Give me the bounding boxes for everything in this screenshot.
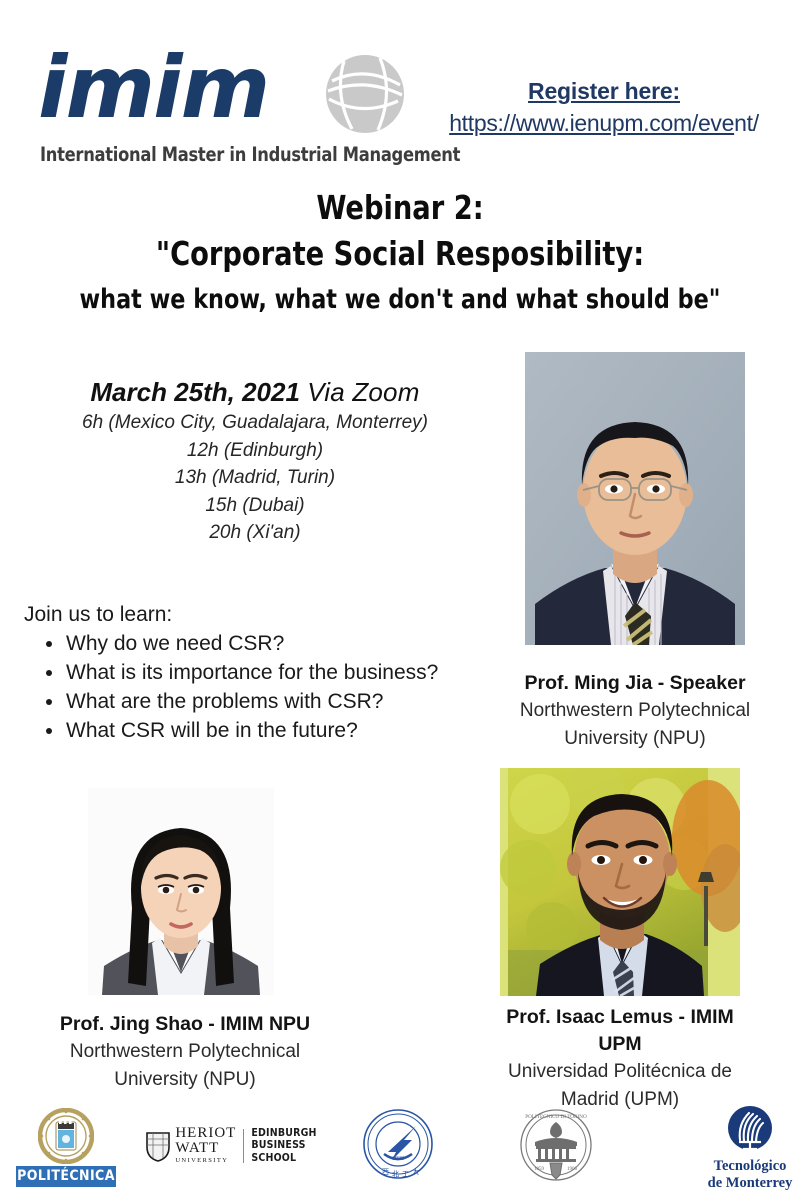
caption-isaac-lemus: Prof. Isaac Lemus - IMIM UPM Universidad…: [455, 1004, 785, 1114]
heriot-name-line-3: UNIVERSITY: [175, 1156, 236, 1165]
speaker-photo-isaac-lemus: [500, 768, 740, 996]
speaker-org-line-1: Northwestern Polytechnical: [490, 697, 780, 725]
register-here-text: Register here: [528, 78, 672, 104]
svg-text:POLITECNICO DI TORINO: POLITECNICO DI TORINO: [525, 1114, 587, 1120]
caption-jing-shao: Prof. Jing Shao - IMIM NPU Northwestern …: [10, 1011, 360, 1094]
register-colon: :: [672, 78, 679, 104]
heriot-watt-logo: HERIOT WATT UNIVERSITY EDINBURGH BUSINES…: [140, 1126, 322, 1165]
list-item: What are the problems with CSR?: [64, 687, 484, 716]
schedule-time-3: 13h (Madrid, Turin): [20, 464, 490, 492]
npu-logo: 1938 西北工大: [352, 1108, 444, 1180]
schedule-platform: Via Zoom: [307, 377, 419, 407]
speaker-photo-ming-jia: [525, 352, 745, 645]
speaker-org-line-2: University (NPU): [10, 1066, 360, 1094]
caption-ming-jia: Prof. Ming Jia - Speaker Northwestern Po…: [490, 670, 780, 753]
speaker-org-line-1: Universidad Politécnica de: [455, 1058, 785, 1086]
torino-seal-icon: POLITECNICO DI TORINO 1859 1906: [519, 1108, 593, 1182]
imim-logo: imim International Master in Industrial …: [34, 47, 414, 167]
heriot-name-line-2: WATT: [175, 1141, 236, 1156]
upm-logo: POLITÉCNICA: [14, 1108, 118, 1187]
agenda-block: Join us to learn: Why do we need CSR? Wh…: [24, 600, 484, 745]
speaker-name-line-2: UPM: [455, 1031, 785, 1058]
agenda-list: Why do we need CSR? What is its importan…: [24, 629, 484, 745]
page-title: Webinar 2: "Corporate Social Resposibili…: [0, 186, 800, 322]
npu-seal-icon: 1938 西北工大: [362, 1108, 434, 1180]
schedule-date: March 25th, 2021: [90, 377, 300, 407]
register-block: Register here: https://www.ienupm.com/ev…: [414, 78, 794, 137]
ebs-line-3: SCHOOL: [251, 1152, 316, 1165]
globe-icon: [322, 51, 408, 137]
speaker-org-line-1: Northwestern Polytechnical: [10, 1038, 360, 1066]
title-line-3: what we know, what we don't and what sho…: [32, 278, 768, 322]
title-line-2: "Corporate Social Resposibility:: [32, 230, 768, 278]
webinar-poster: imim International Master in Industrial …: [0, 0, 800, 1200]
schedule-block: March 25th, 2021 Via Zoom 6h (Mexico Cit…: [20, 375, 490, 547]
list-item: What is its importance for the business?: [64, 658, 484, 687]
imim-wordmark-row: imim: [34, 47, 414, 133]
schedule-time-5: 20h (Xi'an): [20, 519, 490, 547]
imim-tagline: International Master in Industrial Manag…: [40, 143, 460, 166]
tecnologico-monterrey-logo: Tecnológico de Monterrey: [700, 1104, 800, 1191]
ebs-line-2: BUSINESS: [251, 1139, 316, 1152]
footer-logo-row: POLITÉCNICA HERIOT WATT UNIVER: [0, 1104, 800, 1200]
svg-text:1938: 1938: [392, 1156, 404, 1162]
register-url-tail: nt/: [734, 110, 759, 136]
svg-text:北: 北: [392, 1170, 399, 1178]
politecnico-torino-logo: POLITECNICO DI TORINO 1859 1906: [508, 1108, 604, 1182]
heriot-divider: [243, 1129, 244, 1163]
svg-text:1859: 1859: [534, 1167, 545, 1172]
register-here-label[interactable]: Register here:: [414, 78, 794, 105]
schedule-time-1: 6h (Mexico City, Guadalajara, Monterrey): [20, 409, 490, 437]
svg-text:大: 大: [412, 1167, 419, 1176]
speaker-photo-jing-shao: [88, 788, 274, 995]
monterrey-line-1: Tecnológico: [700, 1158, 800, 1175]
register-url-line[interactable]: https://www.ienupm.com/event/: [414, 110, 794, 137]
upm-seal-icon: [38, 1108, 94, 1164]
ebs-line-1: EDINBURGH: [251, 1127, 316, 1140]
svg-text:西: 西: [382, 1168, 389, 1176]
heriot-name-line-1: HERIOT: [175, 1126, 236, 1141]
heriot-shield-icon: [145, 1130, 171, 1162]
speaker-name: Prof. Isaac Lemus - IMIM: [455, 1004, 785, 1031]
list-item: Why do we need CSR?: [64, 629, 484, 658]
schedule-headline: March 25th, 2021 Via Zoom: [20, 375, 490, 409]
speaker-org-line-2: University (NPU): [490, 725, 780, 753]
svg-text:1906: 1906: [567, 1167, 578, 1172]
schedule-time-2: 12h (Edinburgh): [20, 437, 490, 465]
monterrey-wordmark: Tecnológico de Monterrey: [700, 1158, 800, 1191]
monterrey-line-2: de Monterrey: [700, 1175, 800, 1192]
imim-wordmark: imim: [38, 45, 268, 131]
speaker-name: Prof. Jing Shao - IMIM NPU: [10, 1011, 360, 1038]
svg-text:工: 工: [402, 1170, 409, 1178]
schedule-time-4: 15h (Dubai): [20, 492, 490, 520]
upm-politecnica-bar: POLITÉCNICA: [16, 1166, 116, 1187]
agenda-lead: Join us to learn:: [24, 600, 484, 629]
list-item: What CSR will be in the future?: [64, 716, 484, 745]
monterrey-flame-icon: [724, 1104, 776, 1156]
speaker-name: Prof. Ming Jia - Speaker: [490, 670, 780, 697]
register-url-main: https://www.ienupm.com/eve: [449, 110, 734, 136]
title-line-1: Webinar 2:: [32, 186, 768, 230]
